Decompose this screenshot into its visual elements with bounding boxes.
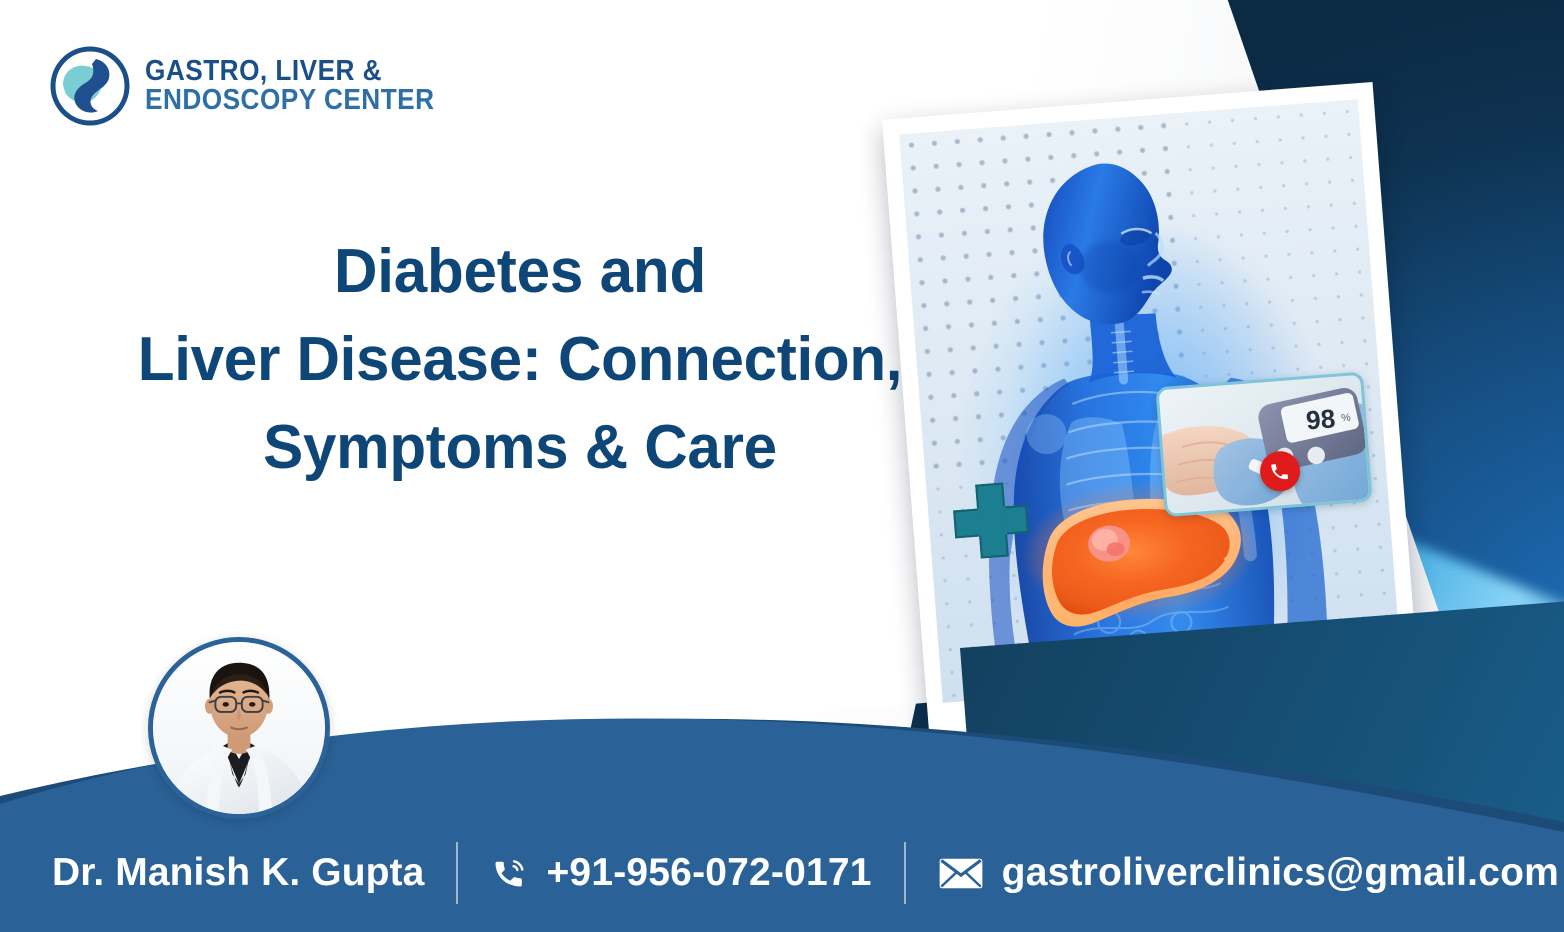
email-contact[interactable]: gastroliverclinics@gmail.com	[938, 851, 1559, 895]
headline-line-3: Symptoms & Care	[93, 404, 947, 492]
phone-number: +91-956-072-0171	[546, 851, 871, 895]
headline-block: Diabetes and Liver Disease: Connection, …	[80, 228, 960, 492]
headline-line-2: Liver Disease: Connection,	[93, 316, 947, 404]
footer-separator-1	[456, 842, 458, 904]
doctor-portrait	[148, 637, 330, 819]
brand-logo[interactable]: GASTRO, LIVER & ENDOSCOPY CENTER	[49, 45, 460, 127]
svg-text:%: %	[1341, 412, 1352, 425]
brand-logo-line1: GASTRO, LIVER &	[145, 57, 435, 86]
liver-stomach-circle-icon	[49, 45, 131, 127]
anatomy-photo-inner: 98 %	[899, 99, 1401, 703]
phone-call-icon	[490, 854, 528, 892]
brand-logo-line2: ENDOSCOPY CENTER	[145, 86, 435, 115]
svg-text:98: 98	[1305, 403, 1336, 435]
phone-contact[interactable]: +91-956-072-0171	[490, 851, 871, 895]
glucometer-photo: 98 %	[1155, 372, 1372, 518]
medical-cross-icon	[951, 481, 1030, 560]
email-address: gastroliverclinics@gmail.com	[1002, 851, 1559, 895]
footer-separator-2	[904, 842, 906, 904]
headline-line-1: Diabetes and	[93, 228, 947, 316]
brand-logo-text: GASTRO, LIVER & ENDOSCOPY CENTER	[145, 57, 460, 115]
banner-canvas: GASTRO, LIVER & ENDOSCOPY CENTER Diabete…	[0, 0, 1564, 932]
doctor-name: Dr. Manish K. Gupta	[52, 851, 424, 895]
footer-contact-bar: Dr. Manish K. Gupta +91-956-072-0171	[0, 814, 1564, 932]
envelope-icon	[938, 857, 984, 890]
